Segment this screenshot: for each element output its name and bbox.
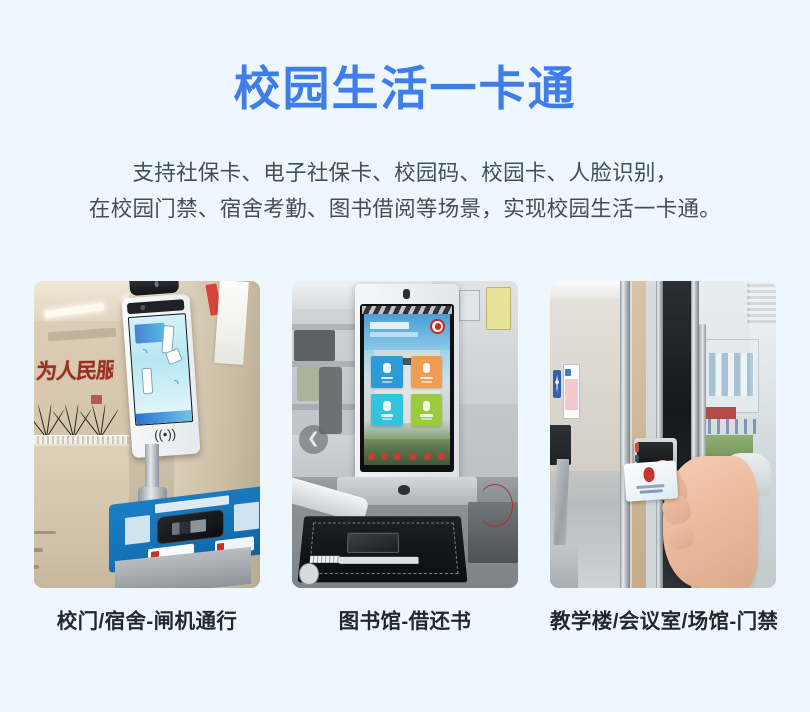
flower bbox=[409, 453, 417, 460]
flower bbox=[437, 453, 445, 460]
card-text-line bbox=[636, 484, 664, 489]
reader-status-led bbox=[635, 455, 639, 462]
rfid-book-scanner-pad[interactable] bbox=[298, 517, 468, 583]
potted-plants bbox=[39, 401, 129, 438]
promo-page: 校园生活一卡通 支持社保卡、电子社保卡、校园码、校园卡、人脸识别， 在校园门禁、… bbox=[0, 0, 810, 712]
kiosk-tile-return[interactable] bbox=[411, 356, 443, 388]
phone-illustration bbox=[141, 368, 153, 394]
scene-card-gate: 为人民服务 bbox=[34, 281, 260, 588]
plant bbox=[40, 401, 52, 438]
page-title: 校园生活一卡通 bbox=[0, 62, 810, 116]
photo-door-access bbox=[550, 281, 776, 588]
book-on-scanner bbox=[346, 533, 398, 554]
kiosk-tile-borrow[interactable] bbox=[371, 356, 403, 388]
counter-slot bbox=[34, 548, 43, 552]
indoor-ceiling bbox=[550, 281, 625, 299]
kiosk-touchscreen[interactable] bbox=[364, 314, 450, 465]
caption-library: 图书馆-借还书 bbox=[292, 604, 518, 634]
cart-wheel bbox=[299, 563, 319, 584]
scanner-label bbox=[339, 557, 419, 564]
screen-title-placeholder bbox=[370, 322, 409, 330]
plant bbox=[67, 401, 79, 438]
caption-door-access: 教学楼/会议室/场馆-门禁 bbox=[550, 604, 776, 634]
red-cable bbox=[477, 484, 513, 527]
flowerbed-illustration bbox=[364, 439, 450, 465]
card-text-line bbox=[639, 490, 663, 494]
door-handle[interactable] bbox=[699, 324, 706, 465]
terminal-sensor-strip bbox=[127, 299, 185, 314]
counter-slot bbox=[34, 565, 39, 569]
kiosk-screen-bezel bbox=[360, 304, 454, 472]
book-pages-edge bbox=[309, 556, 339, 563]
door-wood-trim bbox=[632, 281, 646, 588]
accessibility-sign-icon bbox=[553, 370, 561, 398]
counter-slot bbox=[34, 531, 56, 534]
reader-status-led bbox=[635, 443, 639, 452]
photo-library-kiosk: ❮ bbox=[292, 281, 518, 588]
face-recognition-terminal[interactable]: ((•)) bbox=[121, 294, 200, 458]
qr-scanner-window[interactable] bbox=[156, 509, 223, 546]
signal-wave-icon bbox=[135, 347, 150, 363]
social-security-card[interactable] bbox=[623, 460, 678, 502]
wall-notice-paper bbox=[214, 281, 249, 365]
flower bbox=[424, 453, 432, 460]
photo-gate-turnstile: 为人民服务 bbox=[34, 281, 260, 588]
panel-right-label bbox=[234, 502, 259, 532]
screen-subtitle-placeholder bbox=[370, 332, 418, 337]
page-subtitle: 支持社保卡、电子社保卡、校园码、校园卡、人脸识别， 在校园门禁、宿舍考勤、图书借… bbox=[0, 155, 810, 227]
kiosk-tile-search[interactable] bbox=[371, 394, 403, 426]
flower bbox=[381, 453, 389, 460]
indoor-pedestal bbox=[553, 459, 569, 557]
flower bbox=[368, 453, 376, 460]
phone-illustration bbox=[164, 349, 181, 366]
caption-gate: 校门/宿舍-闸机通行 bbox=[34, 604, 260, 634]
desk-sensor-dot bbox=[398, 485, 409, 495]
terminal-screen[interactable] bbox=[127, 314, 193, 426]
outdoor-red-banner bbox=[701, 407, 736, 419]
self-service-kiosk[interactable] bbox=[355, 284, 459, 484]
screen-glare bbox=[362, 306, 452, 314]
subtitle-line-1: 支持社保卡、电子社保卡、校园码、校园卡、人脸识别， bbox=[0, 155, 810, 191]
scene-card-door-access bbox=[550, 281, 776, 588]
flower bbox=[393, 453, 401, 460]
wall-poster bbox=[563, 364, 579, 419]
scene-card-library: ❮ bbox=[292, 281, 518, 588]
kiosk-tile-renew[interactable] bbox=[411, 394, 443, 426]
scene-card-list: 为人民服务 bbox=[34, 281, 776, 588]
door-frame bbox=[620, 281, 629, 588]
wall-calligraphy-text: 为人民服务 bbox=[35, 354, 115, 392]
shelf-box bbox=[294, 330, 335, 361]
indoor-area bbox=[550, 281, 625, 588]
indoor-floor bbox=[550, 545, 578, 588]
kiosk-camera-icon bbox=[403, 289, 410, 299]
background-person bbox=[319, 367, 342, 435]
national-emblem-icon bbox=[642, 467, 654, 482]
plant bbox=[95, 401, 107, 438]
wall-notice bbox=[459, 290, 479, 321]
caption-list: 校门/宿舍-闸机通行 图书馆-借还书 教学楼/会议室/场馆-门禁 bbox=[34, 604, 776, 634]
signal-wave-icon bbox=[165, 378, 180, 394]
door-frame bbox=[656, 281, 663, 588]
terminal-screen-headline bbox=[134, 323, 165, 344]
subtitle-line-2: 在校园门禁、宿舍考勤、图书借阅等场景，实现校园生活一卡通。 bbox=[0, 191, 810, 227]
wall-notice bbox=[486, 287, 511, 330]
terminal-screen-footer-bar bbox=[135, 410, 192, 425]
panel-left-label bbox=[124, 515, 149, 545]
